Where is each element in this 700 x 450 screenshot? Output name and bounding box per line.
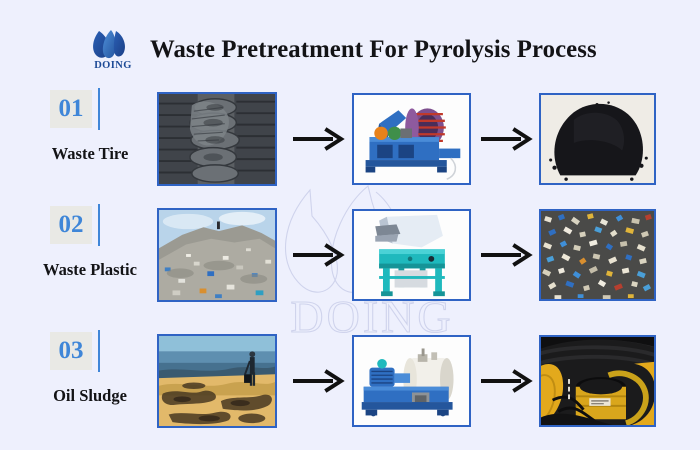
sludge-centrifuge-machine-photo xyxy=(352,335,471,427)
arrow-right-icon xyxy=(291,126,347,152)
shredded-plastic-flakes-photo xyxy=(539,209,656,301)
arrow-right-icon xyxy=(479,368,535,394)
step-number-accent-bar xyxy=(98,204,100,246)
category-label: Waste Tire xyxy=(26,144,154,164)
page-title: Waste Pretreatment For Pyrolysis Process xyxy=(150,34,597,64)
oil-drums-photo xyxy=(539,335,656,427)
plastic-crusher-machine-photo xyxy=(352,209,471,301)
step-number-wrap: 02 xyxy=(50,204,122,248)
step-number-accent-bar xyxy=(98,330,100,372)
row-label-block: 02 Waste Plastic xyxy=(26,204,154,304)
logo-wordmark: DOING xyxy=(94,60,132,71)
row-label-block: 01 Waste Tire xyxy=(26,88,154,188)
doing-logo: DOING xyxy=(90,27,136,71)
arrow-right-icon xyxy=(291,368,347,394)
step-number-wrap: 03 xyxy=(50,330,122,374)
arrow-right-icon xyxy=(291,242,347,268)
waste-plastic-landfill-photo xyxy=(157,208,277,302)
category-label: Oil Sludge xyxy=(26,386,154,406)
process-row-waste-tire: 01 Waste Tire xyxy=(0,88,700,200)
category-label: Waste Plastic xyxy=(26,260,154,280)
step-number: 01 xyxy=(50,90,92,128)
process-row-oil-sludge: 03 Oil Sludge xyxy=(0,330,700,442)
step-number-accent-bar xyxy=(98,88,100,130)
arrow-right-icon xyxy=(479,242,535,268)
infographic-page: DOING DOING xyxy=(0,0,700,450)
row-label-block: 03 Oil Sludge xyxy=(26,330,154,430)
arrow-right-icon xyxy=(479,126,535,152)
step-number: 03 xyxy=(50,332,92,370)
rubber-powder-photo xyxy=(539,93,656,185)
oil-sludge-beach-photo xyxy=(157,334,277,428)
process-row-waste-plastic: 02 Waste Plastic xyxy=(0,204,700,316)
step-number: 02 xyxy=(50,206,92,244)
page-header: DOING Waste Pretreatment For Pyrolysis P… xyxy=(0,20,700,78)
step-number-wrap: 01 xyxy=(50,88,122,132)
waste-tire-pile-photo xyxy=(157,92,277,186)
tire-shredder-machine-photo xyxy=(352,93,471,185)
